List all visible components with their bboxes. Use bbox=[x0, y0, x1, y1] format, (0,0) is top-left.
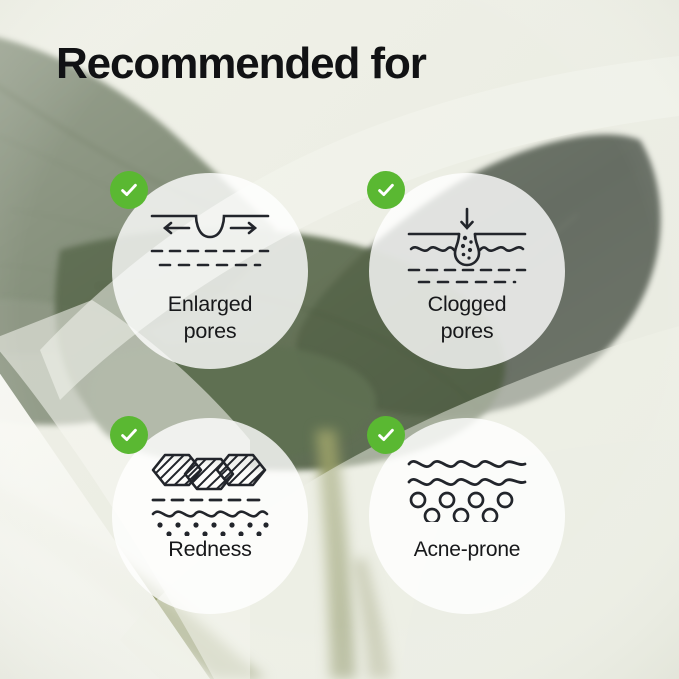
tile-label: Acne-prone bbox=[369, 536, 565, 563]
feature-tile-clogged-pores: Clogged pores bbox=[369, 173, 565, 369]
feature-tile-redness: Redness bbox=[112, 418, 308, 614]
acne-prone-icon bbox=[369, 452, 565, 522]
feature-tile-acne-prone: Acne-prone bbox=[369, 418, 565, 614]
check-icon bbox=[110, 171, 148, 209]
check-icon bbox=[367, 171, 405, 209]
check-icon bbox=[367, 416, 405, 454]
clogged-pores-icon bbox=[369, 207, 565, 287]
enlarged-pores-icon bbox=[112, 207, 308, 273]
tile-label: Enlarged pores bbox=[112, 291, 308, 345]
tile-label: Clogged pores bbox=[369, 291, 565, 345]
check-icon bbox=[110, 416, 148, 454]
tile-label: Redness bbox=[112, 536, 308, 563]
page-title: Recommended for bbox=[56, 38, 426, 90]
feature-tile-enlarged-pores: Enlarged pores bbox=[112, 173, 308, 369]
redness-icon bbox=[112, 452, 308, 536]
recommended-for-infographic: Recommended for bbox=[0, 0, 679, 679]
leaf-background-image bbox=[0, 0, 679, 679]
